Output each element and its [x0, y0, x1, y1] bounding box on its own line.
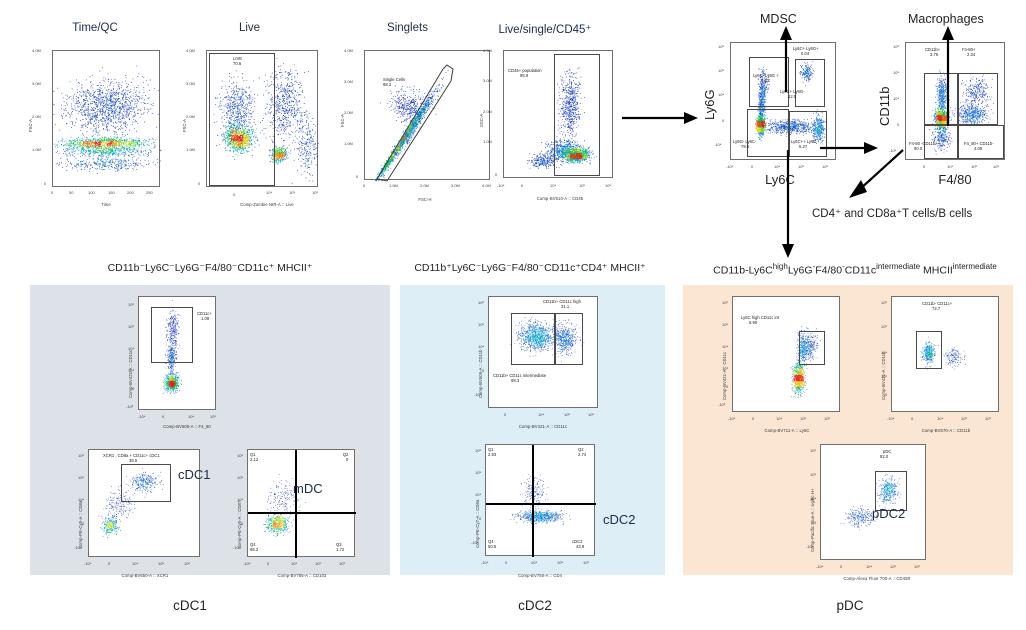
y-axis-label: Comp-Pacific Blue-A :: siglec H+ — [810, 488, 815, 552]
x-tick: 0 — [162, 414, 164, 419]
y-tick: 4.0M — [32, 48, 41, 53]
x-axis-label: Comp-Alexa Fluor 700-A :: CD45R — [822, 576, 932, 581]
gate-cd11c-high[interactable] — [555, 313, 583, 365]
y-tick: 0 — [897, 122, 899, 127]
quadrant-value: 2.93 — [488, 452, 496, 457]
x-tick: 10⁶ — [985, 416, 991, 421]
arrow-to-tcells — [845, 150, 905, 200]
plot-cdc1-xcr1: XCR1 , CD8a + CD11c+ cDC1 35.5 10⁶ 10⁵ 1… — [60, 445, 225, 585]
x-tick: 0 — [840, 564, 842, 569]
panel-title-cdc2: CD11b⁺Ly6C⁻Ly6G⁻F4/80⁻CD11c⁺CD4⁺ MHCII⁺ — [385, 262, 675, 274]
x-tick: 0 — [51, 190, 53, 195]
quadrant-name: Q4 — [250, 542, 256, 547]
gate-xcr1-cd8a-cdc1[interactable] — [121, 464, 171, 502]
y-axis-label: FSC-A — [340, 114, 345, 127]
y-axis-label: Comp-PE-Cy5-A :: CD8a — [78, 501, 83, 549]
quadrant-vertical-line — [295, 450, 297, 558]
y-tick: -10⁴ — [714, 142, 722, 147]
x-axis-name-f480: F4/80 — [925, 172, 985, 187]
population-tag-cdc1: cDC1 — [178, 467, 211, 482]
gate-name: CD45+ population — [508, 68, 542, 73]
y-tick: 3.0M — [32, 81, 41, 86]
y-axis-label: Comp-BV421-A :: CD11c — [881, 352, 886, 400]
gate-label-cd11b-pos: CD11b+ 3.76 — [925, 47, 940, 58]
plot-cdc2-cd4: Q1 2.93 Q2 2.74 cDC2 43.9 Q4 50.5 10⁶ 10… — [435, 440, 620, 585]
arrow-to-mdsc — [778, 26, 794, 92]
x-axis-label: Comp-BV750-A :: CD4 — [495, 573, 585, 578]
y-tick: 10⁵ — [78, 475, 84, 480]
x-tick: 0 — [505, 560, 507, 565]
x-tick: 1.0M — [389, 183, 398, 188]
x-tick: 0 — [521, 183, 523, 188]
y-axis-label: Comp-BV421-A :: CD11c — [128, 350, 133, 398]
gate-value: 2.34 — [967, 52, 975, 57]
gate-label-cd45: CD45+ population 95.9 — [508, 68, 542, 79]
x-tick: 10⁵ — [315, 561, 321, 566]
y-tick: 0 — [356, 174, 358, 179]
gate-value: 90.0 — [914, 146, 922, 151]
quadrant-horizontal-line — [248, 512, 356, 514]
y-axis-label: SSC-A — [479, 114, 484, 127]
callout-tcells: CD4⁺ and CD8a⁺T cells/B cells — [812, 206, 972, 220]
gate-name: Ly6C high CD11c int — [741, 315, 779, 320]
gate-name: Ly6C+ Ly6G+ — [793, 46, 819, 51]
y-axis-label: FSC-A — [28, 119, 33, 132]
y-tick: -10³ — [718, 402, 725, 407]
panel-title-cdc1: CD11b⁻Ly6C⁻Ly6G⁻F4/80⁻CD11c⁺ MHCII⁺ — [30, 262, 390, 274]
quadrant-horizontal-line — [486, 503, 596, 505]
plot-frame: XCR1 , CD8a + CD11c+ cDC1 35.5 — [88, 449, 200, 557]
quadrant-label-q4: Q4 50.5 — [488, 539, 496, 550]
x-axis-label: Time — [66, 202, 146, 207]
x-tick: 10⁶ — [993, 164, 999, 169]
y-axis-name-ly6g: Ly6G — [702, 89, 717, 120]
x-tick: 10⁶ — [312, 190, 318, 195]
x-tick: 10⁵ — [798, 164, 804, 169]
quadrant-value: 43.9 — [576, 544, 584, 549]
gate-value: 31.1 — [561, 304, 569, 309]
plot-live: Live LIVE 70.6 4.0M 3.0M 2.0M 1.0M 0 0 1… — [172, 22, 327, 222]
gate-pdc[interactable] — [875, 471, 907, 511]
gate-value: 0.04 — [801, 51, 809, 56]
x-tick: 10⁴ — [291, 561, 297, 566]
y-tick: 10⁶ — [881, 300, 887, 305]
scatter-points — [892, 297, 1000, 413]
gate-name: Ly6C++ Ly6G - — [791, 139, 819, 144]
gate-f480-pos[interactable] — [958, 73, 998, 125]
gate-value: 72.7 — [932, 306, 940, 311]
quadrant-name: cDC2 — [572, 539, 582, 544]
x-tick: 10⁶ — [824, 416, 830, 421]
quadrant-value: 50.5 — [488, 544, 496, 549]
panel-title-part: CD11b-Ly6C — [713, 265, 773, 277]
y-tick: -10³ — [126, 404, 133, 409]
gate-name: LIVE — [233, 56, 242, 61]
x-tick: 10⁵ — [564, 412, 570, 417]
gate-name: XCR1 , CD8a + CD11c+ cDC1 — [103, 453, 160, 458]
y-tick: 10⁶ — [718, 44, 724, 49]
gate-value: 5.27 — [799, 144, 807, 149]
y-tick: 10⁴ — [893, 96, 899, 101]
x-tick: 0 — [504, 412, 506, 417]
gate-name: F4_80+ CD11b- — [964, 141, 994, 146]
gate-name: CD11b+ CD11c high — [543, 299, 581, 304]
x-axis-label: FSC-H — [385, 197, 465, 202]
quadrant-label-q3: Q3 1.72 — [336, 542, 344, 553]
y-tick: 10⁶ — [475, 448, 481, 453]
x-tick: -10⁴ — [84, 561, 92, 566]
gate-value: 82.0 — [880, 454, 888, 459]
panel-footer-cdc1: cDC1 — [130, 598, 250, 613]
y-tick: 10⁵ — [475, 470, 481, 475]
gate-label-f480-pos: F4-80+ 2.34 — [962, 47, 975, 58]
gate-name: CD11b+ CD11c intermediate — [493, 373, 546, 378]
y-axis-label: Comp-BV605-A :: CD11b — [478, 349, 483, 398]
panel-footer-cdc2: cDC2 — [475, 598, 595, 613]
population-tag-mdc: mDC — [293, 481, 323, 496]
x-tick: 10⁶ — [588, 412, 594, 417]
gate-ly6c-pos-ly6g-pos[interactable] — [795, 59, 825, 107]
gate-value: 70.6 — [233, 61, 241, 66]
gate-label-ly6c-high-cd11c-int: Ly6C high CD11c int 5.90 — [741, 315, 779, 326]
arrow-cd45-to-mdsc — [622, 108, 702, 128]
plot-frame: CD45+ population 95.9 — [503, 50, 613, 178]
x-axis-label: Comp-BV785-A :: CD103 — [257, 573, 347, 578]
x-tick: 0 — [751, 164, 753, 169]
quadrant-label-q1: Q1 2.12 — [250, 452, 258, 463]
gate-value: 95.9 — [520, 73, 528, 78]
gate-cd11c-intermediate[interactable] — [511, 313, 555, 365]
panel-title-part: F4/80 — [815, 265, 842, 277]
x-tick: -10⁴ — [497, 183, 505, 188]
plot-title: Live/single/CD45⁺ — [465, 22, 625, 36]
x-tick: 10⁴ — [132, 561, 138, 566]
quadrant-label-cdc2: cDC2 43.9 — [572, 539, 584, 550]
y-axis-label: Comp-PE-Cy7-A :: CD8a — [475, 500, 480, 548]
x-tick: 10⁴ — [947, 164, 953, 169]
arrow-to-macrophages — [940, 26, 956, 126]
y-tick: 2.0M — [483, 109, 492, 114]
x-axis-label: Comp-BV605-A :: F4_80 — [142, 424, 232, 429]
quadrant-value: 2.74 — [578, 452, 586, 457]
x-axis-label: Comp-BV650-A :: XCR1 — [100, 573, 190, 578]
gate-label-f480-neg-cd11b-neg: F4-80 -CD11b- 90.0 — [909, 141, 937, 152]
gate-label-pdc: pDC 82.0 — [883, 449, 891, 460]
y-tick: 4.0M — [186, 48, 195, 53]
y-tick: 10⁵ — [128, 324, 134, 329]
y-tick: 10⁶ — [78, 453, 84, 458]
x-tick: 150 — [108, 190, 115, 195]
x-tick: 10⁴ — [937, 416, 943, 421]
x-axis-label: Comp-BV711-A :: Ly6C — [742, 428, 832, 433]
quadrant-name: Q2 — [578, 447, 584, 452]
gate-name: Ly6C- Ly6G + — [753, 73, 779, 78]
x-tick: -10⁴ — [887, 416, 895, 421]
x-tick: -10⁴ — [816, 564, 824, 569]
plot-frame: CD11b+ CD11c high 31.1 CD11b+ CD11c inte… — [488, 296, 598, 408]
gate-value: 4.09 — [974, 146, 982, 151]
y-tick: 0 — [198, 181, 200, 186]
panel-title-sup: high — [773, 262, 788, 271]
x-tick: 10⁴ — [531, 560, 537, 565]
panel-title-pdc: CD11b-Ly6ChighLy6G-F4/80-CD11cintermedia… — [695, 262, 1015, 277]
x-axis-label: Comp-BV510-A :: CD45 — [510, 196, 610, 201]
gate-value: 1.09 — [201, 316, 209, 321]
quadrant-name: Q4 — [488, 539, 494, 544]
x-tick: 10⁵ — [289, 190, 295, 195]
x-tick: 100 — [88, 190, 95, 195]
x-tick: 10⁴ — [188, 414, 194, 419]
x-tick: 10⁵ — [890, 564, 896, 569]
arrow-mdsc-to-tcells — [780, 150, 796, 260]
x-tick: 10⁵ — [971, 164, 977, 169]
y-tick: 10⁶ — [478, 300, 484, 305]
y-tick: 2.0M — [344, 110, 353, 115]
quadrant-label-q2: Q2 0 — [342, 452, 348, 463]
x-tick: 10⁶ — [339, 561, 345, 566]
gate-name: CD11b+ — [925, 47, 940, 52]
plot-frame: CD11c+ 1.09 — [138, 296, 216, 410]
x-tick: 0 — [923, 164, 925, 169]
gate-value: 98.2 — [383, 82, 391, 87]
panel-title-sup: intermediate — [876, 262, 920, 271]
plot-mdsc: Ly6C- Ly6G + 0.83 Ly6C+ Ly6G+ 0.04 Ly6C+… — [700, 28, 850, 228]
gate-value: 79.3 — [741, 144, 749, 149]
y-tick: 10⁴ — [722, 344, 728, 349]
y-axis-name-cd11b: CD11b — [877, 86, 892, 126]
gate-name: pDC — [883, 449, 891, 454]
panel-title-part: CD11c — [845, 265, 876, 277]
x-tick: 50 — [69, 190, 73, 195]
callout-mdsc: MDSC — [760, 12, 797, 26]
gate-value: 5.90 — [749, 320, 757, 325]
gate-cd11b-neg-cd11c-pos[interactable] — [916, 331, 942, 369]
plot-pdc-ly6c: Ly6C high CD11c int 5.90 10⁶ 10⁵ 10⁴ 10³… — [700, 292, 860, 432]
x-tick: 2.0M — [420, 183, 429, 188]
population-tag-pdc2: pDC2 — [872, 506, 905, 521]
x-tick: 10⁶ — [184, 561, 190, 566]
x-tick: 10⁶ — [605, 183, 611, 188]
x-tick: 10⁴ — [550, 183, 556, 188]
gate-cd45-positive[interactable] — [554, 54, 600, 176]
quadrant-name: Q2 — [343, 452, 349, 457]
gate-label-cd11c-high: CD11b+ CD11c high 31.1 — [543, 299, 581, 310]
x-tick: -10⁴ — [481, 560, 489, 565]
y-tick: 10⁵ — [881, 324, 887, 329]
plot-frame: Q1 2.12 Q2 0 Q3 1.72 Q4 96.2 — [247, 449, 355, 557]
gate-live[interactable] — [209, 53, 275, 186]
gate-value: 3.76 — [930, 52, 938, 57]
quadrant-value: 2.12 — [250, 457, 258, 462]
x-tick: 10⁴ — [266, 190, 272, 195]
plot-cdc1-cd103: Q1 2.12 Q2 0 Q3 1.72 Q4 96.2 10⁶ 10⁵ 10⁴… — [215, 445, 380, 585]
quadrant-name: Q3 — [336, 542, 342, 547]
x-tick: 10⁴ — [538, 412, 544, 417]
y-tick: 10⁵ — [237, 475, 243, 480]
x-tick: 10⁵ — [800, 416, 806, 421]
quadrant-value: 96.2 — [250, 547, 258, 552]
quadrant-label-q2: Q2 2.74 — [578, 447, 586, 458]
x-tick: 10⁵ — [579, 183, 585, 188]
y-axis-label: FSC-A — [182, 119, 187, 132]
quadrant-name: Q1 — [250, 452, 256, 457]
y-tick: 10⁶ — [237, 453, 243, 458]
gate-label-cd11c-pos: CD11c+ 1.09 — [197, 311, 212, 322]
y-tick: 10⁵ — [810, 472, 816, 477]
x-tick: -10⁴ — [726, 164, 734, 169]
y-tick: 10⁶ — [810, 448, 816, 453]
y-tick: 10⁵ — [718, 68, 724, 73]
panel-footer-pdc: pDC — [790, 598, 910, 613]
quadrant-label-q4: Q4 96.2 — [250, 542, 258, 553]
gate-label-ly6c-neg-ly6g-pos: Ly6C- Ly6G + 0.83 — [753, 73, 779, 84]
scatter-points — [53, 51, 161, 188]
x-tick: 10⁶ — [822, 164, 828, 169]
y-tick: 10⁵ — [722, 322, 728, 327]
gate-value: 68.3 — [511, 378, 519, 383]
y-tick: 0 — [44, 181, 46, 186]
x-tick: 0 — [752, 416, 754, 421]
quadrant-vertical-line — [532, 445, 534, 557]
x-tick: 10⁶ — [583, 560, 589, 565]
y-tick: 0 — [722, 118, 724, 123]
gate-name: F4-80 -CD11b- — [909, 141, 937, 146]
x-tick: 0 — [911, 416, 913, 421]
x-tick: 10⁶ — [914, 564, 920, 569]
plot-frame: LIVE 70.6 — [206, 50, 318, 187]
y-tick: 1.0M — [344, 141, 353, 146]
y-tick: 10⁵ — [478, 322, 484, 327]
quadrant-value: 0 — [346, 457, 348, 462]
gate-label-ly6c-pos-ly6g-pos: Ly6C+ Ly6G+ 0.04 — [793, 46, 819, 57]
x-tick: -10⁴ — [243, 561, 251, 566]
x-axis-label: Comp-BV421-A :: CD11c — [498, 424, 588, 429]
gate-label-cdc1: XCR1 , CD8a + CD11c+ cDC1 35.5 — [103, 453, 160, 464]
y-tick: 2.0M — [186, 114, 195, 119]
x-tick: 200 — [127, 190, 134, 195]
x-tick: -10⁴ — [138, 414, 146, 419]
plot-title: Live — [172, 22, 327, 34]
quadrant-label-q1: Q1 2.93 — [488, 447, 496, 458]
y-tick: 3.0M — [344, 79, 353, 84]
plot-cdc2-cd11c: CD11b+ CD11c high 31.1 CD11b+ CD11c inte… — [440, 292, 620, 432]
gate-label-cd11c-intermediate: CD11b+ CD11c intermediate 68.3 — [493, 373, 546, 384]
x-tick: 250 — [146, 190, 153, 195]
x-tick: 10⁵ — [210, 414, 216, 419]
plot-pdc-cd11b: CD11b- CD11c+ 72.7 10⁶ 10⁵ 10⁴ 10³ 0 -10… — [855, 292, 1015, 432]
plot-frame: Ly6C high CD11c int 5.90 — [732, 296, 840, 412]
x-axis-label: Comp-Zombie NIR-A :: Live — [212, 202, 322, 207]
gate-value: 35.5 — [129, 458, 137, 463]
y-tick: 3.0M — [186, 81, 195, 86]
y-tick: 1.0M — [32, 147, 41, 152]
y-tick: 10⁶ — [893, 44, 899, 49]
plot-cdc1-cd11c: CD11c+ 1.09 10⁶ 10⁵ 10⁴ 10³ 0 -10³ -10⁴ … — [100, 292, 250, 432]
plot-frame: CD11b- CD11c+ 72.7 — [891, 296, 999, 412]
gate-name: CD11b- CD11c+ — [922, 301, 952, 306]
gate-label-cd11b-neg-cd11c-pos: CD11b- CD11c+ 72.7 — [922, 301, 952, 312]
panel-title-part: MHCII — [923, 265, 953, 277]
y-tick: 10⁴ — [475, 492, 481, 497]
gate-label-f480-pos-cd11b-neg: F4_80+ CD11b- 4.09 — [964, 141, 994, 152]
callout-macrophages: Macrophages — [908, 12, 984, 26]
gate-value: 0.83 — [761, 78, 769, 83]
y-tick: 10⁴ — [718, 92, 724, 97]
gate-ly6c-high-cd11c-int[interactable] — [799, 331, 825, 365]
gate-label-ly6g-neg-ly6c-neg: Ly6G- Ly6C- 79.3 — [733, 139, 756, 150]
y-axis-label: Comp-PE-Cy5-A :: CD87 — [237, 501, 242, 549]
gate-cd11c-pos[interactable] — [151, 307, 193, 363]
y-tick: 10⁶ — [128, 302, 134, 307]
panel-title-part: Ly6G — [788, 265, 813, 277]
y-tick: 0 — [495, 172, 497, 177]
gate-label-live: LIVE 70.6 — [233, 56, 242, 67]
x-tick: 10⁴ — [866, 564, 872, 569]
gate-name: Single Cells — [383, 77, 405, 82]
plot-frame: pDC 82.0 — [820, 444, 926, 560]
y-tick: 10⁵ — [893, 70, 899, 75]
gate-name: Ly6G- Ly6C- — [733, 139, 756, 144]
plot-cd45: Live/single/CD45⁺ CD45+ population 95.9 … — [455, 22, 620, 222]
x-axis-label: Comp-BV570-A :: CD11b — [901, 428, 991, 433]
x-tick: 0 — [233, 192, 235, 197]
x-tick: 0 — [108, 561, 110, 566]
x-tick: 0 — [363, 183, 365, 188]
y-tick: 4.0M — [483, 48, 492, 53]
plot-frame — [52, 50, 160, 187]
y-tick: 2.0M — [32, 114, 41, 119]
gate-label-ly6c-high-ly6g-neg: Ly6C++ Ly6G - 5.27 — [791, 139, 819, 150]
panel-title-sup: intermediate — [953, 262, 997, 271]
y-tick: 1.0M — [483, 139, 492, 144]
plot-pdc-cd45r: pDC 82.0 10⁶ 10⁵ 10⁴ 0 -10⁴ -10⁴ 0 10⁴ 1… — [780, 440, 950, 585]
y-tick: 4.0M — [344, 48, 353, 53]
scatter-points — [821, 445, 927, 561]
y-tick: 3.0M — [483, 78, 492, 83]
gate-name: F4-80+ — [962, 47, 975, 52]
x-tick: 10⁵ — [557, 560, 563, 565]
plot-time-qc: Time/QC 4.0M 3.0M 2.0M 1.0M 0 0 50 100 1… — [20, 22, 170, 222]
population-tag-cdc2: cDC2 — [603, 512, 636, 527]
y-axis-label: Comp-BV421-A :: CD11c — [722, 352, 727, 400]
quadrant-name: Q1 — [488, 447, 494, 452]
y-tick: 10⁶ — [722, 300, 728, 305]
gate-label-single-cells: Single Cells 98.2 — [383, 77, 405, 88]
y-tick: 1.0M — [186, 147, 195, 152]
gate-name: CD11c+ — [197, 311, 212, 316]
quadrant-value: 1.72 — [336, 547, 344, 552]
plot-frame: Q1 2.93 Q2 2.74 cDC2 43.9 Q4 50.5 — [485, 444, 595, 556]
gate-value: 12.5 — [788, 94, 796, 99]
x-tick: 10⁴ — [776, 416, 782, 421]
x-tick: 10⁵ — [961, 416, 967, 421]
x-tick: 10⁵ — [158, 561, 164, 566]
plot-title: Time/QC — [20, 22, 170, 34]
x-tick: -10⁴ — [728, 416, 736, 421]
x-tick: 0 — [267, 561, 269, 566]
